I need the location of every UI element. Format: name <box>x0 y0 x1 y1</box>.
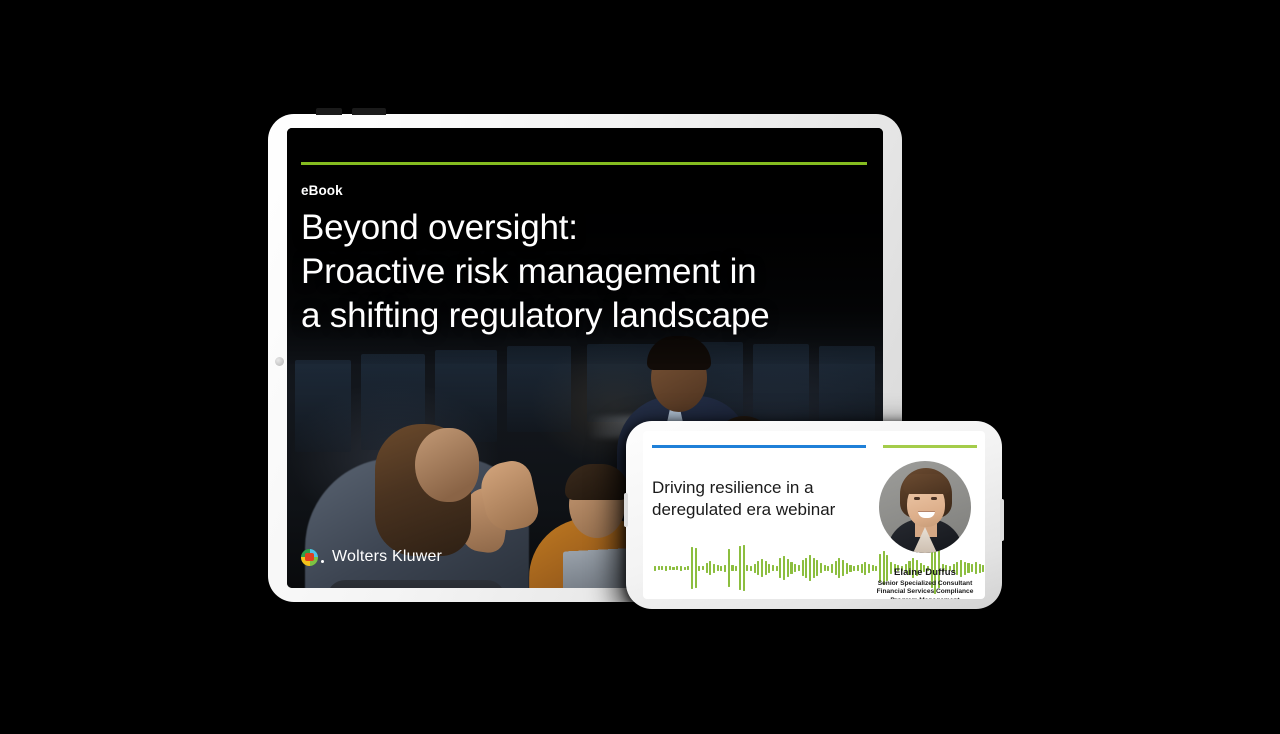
waveform-bar <box>731 565 733 571</box>
waveform-bar <box>857 565 859 571</box>
waveform-bar <box>746 565 748 571</box>
waveform-bar <box>709 561 711 575</box>
logo-dot-icon <box>321 560 324 563</box>
waveform-bar <box>798 565 800 571</box>
waveform-bar <box>824 565 826 571</box>
waveform-bar <box>672 567 674 570</box>
wolters-kluwer-logo-text: Wolters Kluwer <box>332 548 442 566</box>
audio-waveform[interactable] <box>654 543 870 593</box>
phone-accent-rule-blue <box>652 445 866 448</box>
wolters-kluwer-logo: Wolters Kluwer <box>301 548 442 566</box>
webinar-title-line-2: deregulated era webinar <box>652 499 866 521</box>
waveform-bar <box>754 564 756 573</box>
waveform-bar <box>717 565 719 571</box>
speaker-role-line-1: Senior Specialized Consultant <box>871 580 979 588</box>
waveform-bar <box>772 565 774 571</box>
tablet-top-button-2[interactable] <box>352 108 386 115</box>
waveform-bar <box>654 566 656 571</box>
waveform-bar <box>816 560 818 576</box>
avatar-eye-right <box>931 497 937 500</box>
waveform-bar <box>802 560 804 576</box>
phone-screen: Driving resilience in a deregulated era … <box>643 431 985 599</box>
waveform-bar <box>695 548 697 588</box>
waveform-bar <box>669 566 671 570</box>
waveform-bar <box>691 547 693 589</box>
waveform-bar <box>838 558 840 578</box>
speaker-role-line-3: Program Management <box>871 597 979 599</box>
avatar-fringe <box>903 474 950 494</box>
waveform-bar <box>684 567 686 570</box>
phone-device[interactable]: Driving resilience in a deregulated era … <box>626 421 1002 609</box>
waveform-bar <box>853 566 855 571</box>
waveform-bar <box>665 566 667 571</box>
person-foreground-head <box>415 428 479 502</box>
waveform-bar <box>687 566 689 570</box>
waveform-bar <box>849 565 851 572</box>
office-chair <box>327 580 505 588</box>
waveform-bar <box>831 564 833 573</box>
waveform-bar <box>813 558 815 578</box>
waveform-bar <box>735 566 737 571</box>
ebook-title: Beyond oversight: Proactive risk managem… <box>301 206 861 338</box>
webinar-title-line-1: Driving resilience in a <box>652 477 866 499</box>
speaker-credit: Elaine Duffus Senior Specialized Consult… <box>871 567 979 599</box>
waveform-bar <box>787 559 789 577</box>
phone-accent-rule-green <box>883 445 977 448</box>
waveform-bar <box>765 561 767 575</box>
waveform-bar <box>724 565 726 572</box>
waveform-bar <box>783 556 785 580</box>
waveform-bar <box>842 560 844 576</box>
speaker-name: Elaine Duffus <box>871 567 979 578</box>
waveform-bar <box>835 561 837 575</box>
wolters-kluwer-logo-mark-icon <box>301 549 318 566</box>
tablet-front-camera-icon <box>275 357 284 366</box>
waveform-bar <box>794 564 796 572</box>
avatar-eye-left <box>914 497 920 500</box>
waveform-bar <box>680 566 682 571</box>
waveform-bar <box>728 549 730 587</box>
tablet-top-button-1[interactable] <box>316 108 342 115</box>
speaker-headshot <box>879 461 971 553</box>
waveform-bar <box>846 563 848 574</box>
ebook-title-line-3: a shifting regulatory landscape <box>301 294 861 338</box>
waveform-bar <box>739 546 741 590</box>
waveform-bar <box>702 566 704 570</box>
waveform-bar <box>761 559 763 577</box>
waveform-bar <box>676 566 678 570</box>
phone-volume-button[interactable] <box>624 493 628 527</box>
webinar-title: Driving resilience in a deregulated era … <box>652 477 866 521</box>
waveform-bar <box>861 564 863 573</box>
phone-power-button[interactable] <box>1000 499 1004 541</box>
waveform-bar <box>805 558 807 578</box>
ebook-eyebrow-label: eBook <box>301 183 343 198</box>
waveform-bar <box>706 563 708 573</box>
waveform-bar <box>661 566 663 570</box>
waveform-bar <box>827 566 829 571</box>
waveform-bar <box>868 564 870 573</box>
tablet-accent-rule <box>301 162 867 165</box>
waveform-bar <box>779 558 781 578</box>
waveform-bar <box>864 562 866 575</box>
scene-root: eBook Beyond oversight: Proactive risk m… <box>0 0 1280 734</box>
waveform-bar <box>776 566 778 571</box>
waveform-bar <box>720 566 722 571</box>
waveform-bar <box>757 561 759 575</box>
waveform-bar <box>820 563 822 573</box>
waveform-bar <box>750 566 752 571</box>
ebook-title-line-2: Proactive risk management in <box>301 250 861 294</box>
office-window-pane <box>295 360 351 452</box>
waveform-bar <box>658 566 660 570</box>
ebook-title-line-1: Beyond oversight: <box>301 206 861 250</box>
waveform-bar <box>790 562 792 574</box>
waveform-bar <box>698 566 700 571</box>
waveform-bar <box>713 564 715 573</box>
waveform-bar <box>768 564 770 573</box>
waveform-bar <box>809 555 811 581</box>
waveform-bar <box>982 565 984 572</box>
speaker-role-line-2: Financial Services Compliance <box>871 588 979 596</box>
waveform-bar <box>743 545 745 591</box>
